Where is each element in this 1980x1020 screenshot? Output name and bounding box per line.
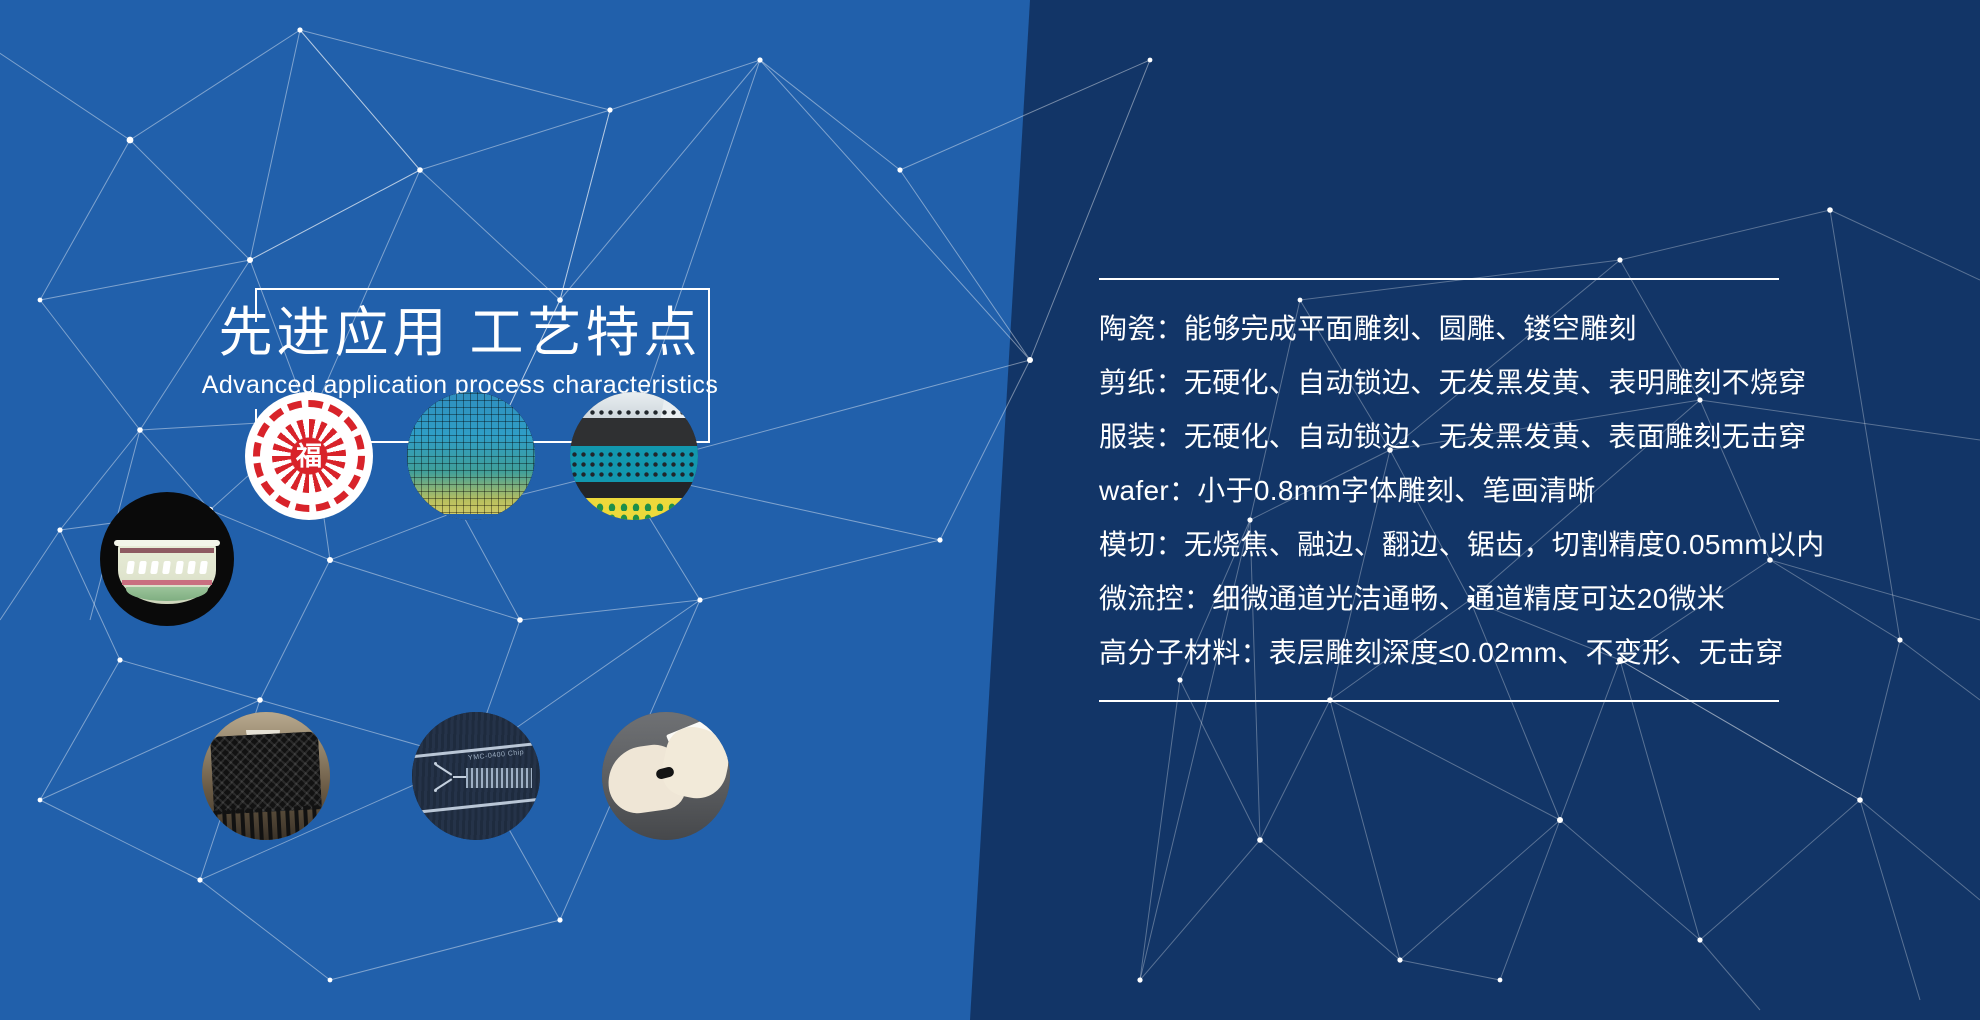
film-dot-row-1 <box>570 408 698 417</box>
feature-item-apparel: 服装：无硬化、自动锁边、无发黑发黄、表面雕刻无击穿 <box>1099 410 1899 464</box>
feature-list-panel: 陶瓷：能够完成平面雕刻、圆雕、镂空雕刻 剪纸：无硬化、自动锁边、无发黑发黄、表明… <box>1099 278 1899 702</box>
silicon-wafer-photo[interactable] <box>407 392 535 520</box>
feature-item-diecut: 模切：无烧焦、融边、翻边、锯齿，切割精度0.05mm以内 <box>1099 518 1899 572</box>
feature-item-polymer: 高分子材料：表层雕刻深度≤0.02mm、不变形、无击穿 <box>1099 626 1899 680</box>
papercut-fu-character: 福 <box>296 443 322 469</box>
film-yellow-motif-row-1 <box>570 500 698 511</box>
feature-item-microfluidics: 微流控：细微通道光洁通畅、通道精度可达20微米 <box>1099 572 1899 626</box>
feature-item-ceramic: 陶瓷：能够完成平面雕刻、圆雕、镂空雕刻 <box>1099 302 1899 356</box>
ceramic-bowl-photo[interactable] <box>100 492 234 626</box>
feature-item-wafer: wafer：小于0.8mm字体雕刻、笔画清晰 <box>1099 464 1899 518</box>
title-frame-top-edge <box>255 288 710 290</box>
garment-lattice-body <box>210 731 322 815</box>
film-dot-row-3 <box>570 460 698 469</box>
garment-fringe <box>213 805 319 840</box>
slide-canvas: 先进应用 工艺特点 Advanced application process c… <box>0 0 1980 1020</box>
feature-list-bottom-rule <box>1099 700 1779 702</box>
wafer-die-grid <box>407 392 535 520</box>
film-dark-band-1 <box>570 418 698 446</box>
microfluidic-chip-photo[interactable]: YMC-0400 Chip <box>412 712 540 840</box>
film-dot-row-4 <box>570 470 698 479</box>
feature-list: 陶瓷：能够完成平面雕刻、圆雕、镂空雕刻 剪纸：无硬化、自动锁边、无发黑发黄、表明… <box>1099 280 1899 690</box>
bowl-middle-band <box>122 580 212 585</box>
page-title: 先进应用 工艺特点 <box>195 300 725 366</box>
black-garment-photo[interactable] <box>202 712 330 840</box>
die-cut-film-photo[interactable] <box>570 392 698 520</box>
feature-item-papercut: 剪纸：无硬化、自动锁边、无发黑发黄、表明雕刻不烧穿 <box>1099 356 1899 410</box>
bowl-rim <box>114 540 220 546</box>
title-text-group: 先进应用 工艺特点 Advanced application process c… <box>195 300 725 402</box>
bowl-lower-band <box>126 587 208 601</box>
film-dark-band-2 <box>570 482 698 498</box>
film-yellow-motif-row-2 <box>570 511 698 520</box>
red-papercut-photo[interactable]: 福 <box>245 392 373 520</box>
chip-y-junction <box>434 760 468 794</box>
chip-serpentine-channel <box>466 768 532 788</box>
polymer-material-photo[interactable] <box>602 712 730 840</box>
bowl-upper-band <box>120 548 214 553</box>
bowl-carved-glyphs <box>124 556 210 578</box>
film-dot-row-2 <box>570 450 698 459</box>
wafer-flat-edge <box>441 514 501 520</box>
